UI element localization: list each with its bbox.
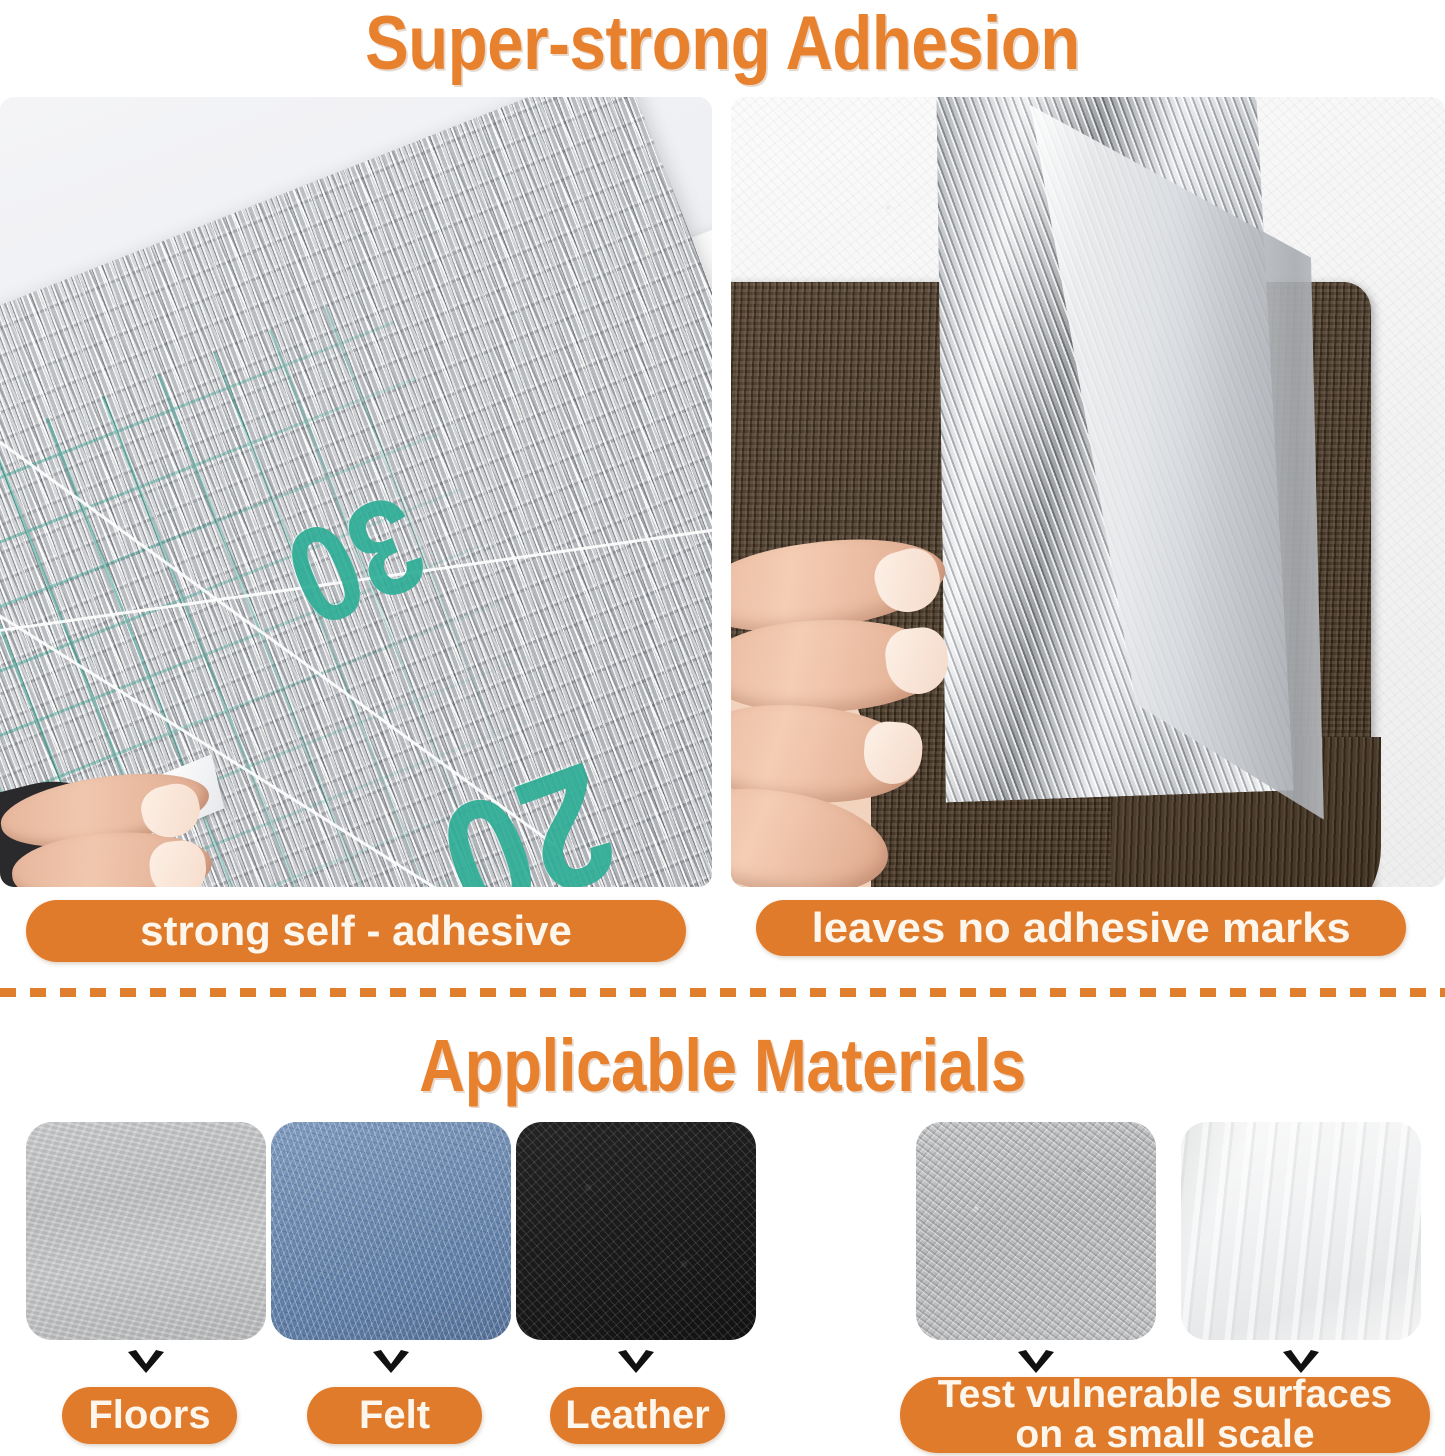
black-leather-swatch <box>516 1122 756 1340</box>
white-plaster-wall-swatch <box>1181 1122 1421 1340</box>
material-label-text: Test vulnerable surfaces on a small scal… <box>938 1375 1392 1455</box>
foil-sheet-peel-photo: 30 20 <box>0 97 712 887</box>
material-label-felt: Felt <box>307 1387 482 1444</box>
hand <box>0 737 230 887</box>
page-title-adhesion: Super-strong Adhesion <box>101 0 1344 92</box>
caption-text: leaves no adhesive marks <box>811 904 1350 952</box>
section-divider <box>0 988 1445 997</box>
caption-badge-self-adhesive: strong self - adhesive <box>26 900 686 962</box>
page-title-materials: Applicable Materials <box>101 1018 1344 1114</box>
caption-badge-no-marks: leaves no adhesive marks <box>756 900 1406 956</box>
material-label-leather: Leather <box>550 1387 725 1444</box>
mat-foil-peel-photo <box>731 97 1445 887</box>
chevron-down-icon <box>124 1347 168 1379</box>
caption-text: strong self - adhesive <box>140 907 572 955</box>
hand <box>731 542 966 887</box>
chevron-down-icon <box>369 1347 413 1379</box>
material-label-text: Felt <box>359 1393 430 1438</box>
textured-stucco-wall-swatch <box>916 1122 1156 1340</box>
material-label-text: Leather <box>565 1393 710 1438</box>
material-label-floors: Floors <box>62 1387 237 1444</box>
concrete-floor-swatch <box>26 1122 266 1340</box>
material-label-test-surfaces: Test vulnerable surfaces on a small scal… <box>900 1377 1430 1453</box>
chevron-down-icon <box>614 1347 658 1379</box>
material-label-text: Floors <box>88 1393 210 1438</box>
felt-fabric-swatch <box>271 1122 511 1340</box>
